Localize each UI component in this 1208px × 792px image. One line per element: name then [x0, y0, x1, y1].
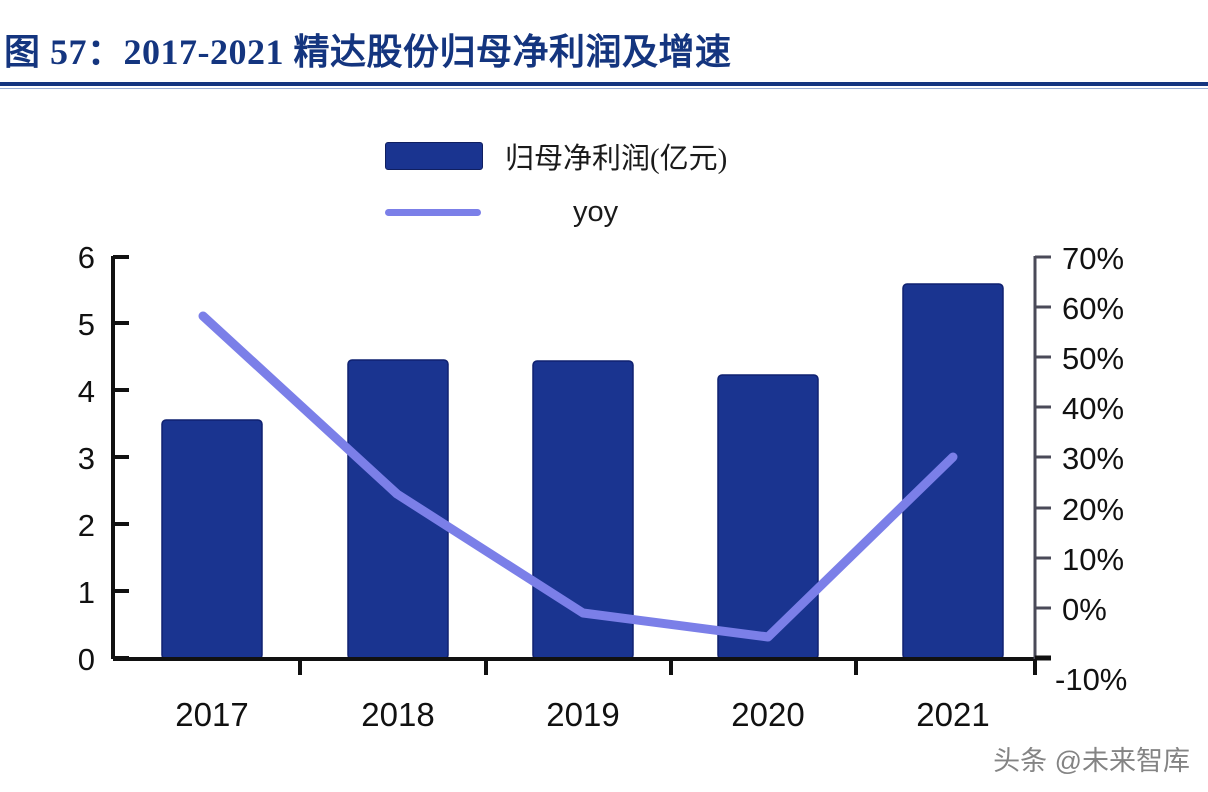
left-tick-6: 6	[78, 240, 95, 275]
right-tick-60: 60%	[1062, 291, 1124, 326]
watermark: 头条 @未来智库	[993, 739, 1190, 778]
left-tick-5: 5	[78, 307, 95, 342]
bar-2021[interactable]	[903, 284, 1003, 659]
bar-series-profit	[162, 284, 1003, 659]
x-tick-2021: 2021	[916, 696, 989, 733]
x-tick-2017: 2017	[175, 696, 248, 733]
x-tick-2018: 2018	[361, 696, 434, 733]
right-tick-0: 0%	[1062, 592, 1107, 627]
right-tick-70: 70%	[1062, 241, 1124, 276]
left-tick-4: 4	[78, 374, 95, 409]
left-tick-3: 3	[78, 441, 95, 476]
watermark-text: 头条 @未来智库	[993, 739, 1190, 778]
bar-2020[interactable]	[718, 375, 818, 659]
chart-plot-area: 6 5 4 3 2 1 0	[0, 0, 1208, 792]
right-tick-30: 30%	[1062, 441, 1124, 476]
left-tick-2: 2	[78, 508, 95, 543]
right-tick-20: 20%	[1062, 492, 1124, 527]
x-tick-2019: 2019	[546, 696, 619, 733]
right-tick-10: 10%	[1062, 542, 1124, 577]
right-axis-tick-labels: 70% 60% 50% 40% 30% 20% 10% 0% -10%	[1055, 241, 1127, 697]
left-tick-1: 1	[78, 575, 95, 610]
left-tick-0: 0	[78, 642, 95, 677]
x-axis-tick-labels: 2017 2018 2019 2020 2021	[175, 696, 989, 733]
left-axis	[113, 256, 129, 659]
bar-2018[interactable]	[348, 360, 448, 659]
x-axis	[113, 659, 1035, 675]
left-axis-tick-labels: 6 5 4 3 2 1 0	[78, 240, 95, 677]
right-tick-neg10: -10%	[1055, 662, 1127, 697]
right-tick-50: 50%	[1062, 341, 1124, 376]
x-tick-2020: 2020	[731, 696, 804, 733]
right-axis	[1035, 256, 1051, 659]
right-tick-40: 40%	[1062, 391, 1124, 426]
bar-2017[interactable]	[162, 420, 262, 659]
